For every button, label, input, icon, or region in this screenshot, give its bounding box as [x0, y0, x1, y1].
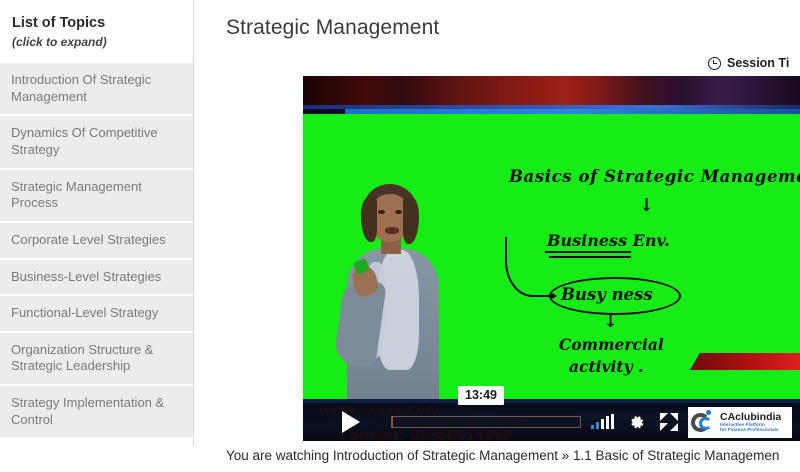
play-button[interactable] [333, 407, 369, 437]
sidebar-item-functional-level-strategy[interactable]: Functional-Level Strategy [0, 294, 193, 331]
fullscreen-corner-tr [670, 413, 678, 421]
seek-progress [392, 417, 393, 427]
volume-bar-2 [596, 422, 599, 429]
sidebar-item-dynamics-of-competitive-strategy[interactable]: Dynamics Of Competitive Strategy [0, 114, 193, 167]
sidebar-item-corporate-level-strategies[interactable]: Corporate Level Strategies [0, 221, 193, 258]
sidebar-item-organization-structure-strategic-leadership[interactable]: Organization Structure & Strategic Leade… [0, 331, 193, 384]
fullscreen-corner-bl [660, 423, 668, 431]
sidebar-subtitle: (click to expand) [12, 35, 181, 49]
player-controls: 13:49 [303, 403, 800, 441]
fullscreen-corner-br [670, 423, 678, 431]
handwriting-arrow-down-1: ↓ [639, 195, 654, 216]
session-time-indicator: Session Ti [708, 56, 800, 70]
handwriting-underline-2 [549, 256, 631, 258]
time-tooltip: 13:49 [458, 386, 504, 405]
handwriting-title: Basics of Strategic Management [509, 167, 800, 186]
presenter-eye-left [378, 210, 385, 214]
brand-tagline-line2: for Finance Professionals [720, 428, 781, 433]
handwriting-activity: activity . [569, 357, 643, 376]
seek-bar[interactable]: 13:49 [391, 416, 581, 428]
presenter-hair-left [361, 198, 377, 242]
gear-icon[interactable] [627, 413, 646, 432]
volume-bar-4 [606, 416, 609, 429]
logo-inner-c [699, 417, 712, 430]
now-watching-caption: You are watching Introduction of Strateg… [226, 448, 800, 463]
course-video-page: List of Topics (click to expand) Introdu… [0, 0, 800, 472]
video-top-banner [303, 76, 800, 109]
presenter-hair-right [403, 198, 419, 244]
page-title: Strategic Management [226, 16, 439, 40]
caclubindia-logo-text: CAclubindia Interactive Platform for Fin… [720, 412, 781, 433]
handwritten-notes: Basics of Strategic Management ↓ Busines… [499, 159, 799, 429]
handwriting-busy-ness: Busy ness [561, 285, 653, 304]
caclubindia-logo-icon [691, 410, 717, 434]
presenter-mouth [385, 227, 399, 234]
video-green-screen: Basics of Strategic Management ↓ Busines… [303, 109, 800, 399]
presenter-eye-right [395, 210, 402, 214]
caclubindia-logo[interactable]: CAclubindia Interactive Platform for Fin… [688, 407, 792, 438]
volume-bar-3 [601, 419, 604, 429]
topics-sidebar: List of Topics (click to expand) Introdu… [0, 0, 194, 446]
video-player[interactable]: Basics of Strategic Management ↓ Busines… [303, 76, 800, 441]
handwriting-commercial: Commercial [559, 335, 664, 354]
volume-icon[interactable] [591, 415, 614, 429]
handwriting-underline-1 [545, 251, 631, 253]
presenter-figure [333, 184, 451, 434]
handwriting-arrow-down-2: ↓ [603, 311, 618, 332]
logo-dot [706, 410, 711, 415]
clock-icon [708, 57, 721, 70]
sidebar-item-introduction-of-strategic-management[interactable]: Introduction Of Strategic Management [0, 61, 193, 114]
volume-bar-5 [611, 414, 614, 429]
volume-bar-1 [591, 425, 594, 429]
video-red-accent-bar [690, 353, 800, 370]
sidebar-item-business-level-strategies[interactable]: Business-Level Strategies [0, 258, 193, 295]
main-content: Strategic Management Session Ti [195, 0, 800, 472]
sidebar-header: List of Topics (click to expand) [0, 0, 193, 61]
sidebar-title: List of Topics [12, 14, 181, 32]
session-time-label: Session Ti [727, 56, 789, 70]
handwriting-business-env: Business Env. [547, 231, 670, 250]
play-icon [342, 411, 360, 433]
fullscreen-icon[interactable] [660, 413, 678, 431]
handwriting-curved-arrow [505, 237, 551, 297]
sidebar-item-strategy-implementation-control[interactable]: Strategy Implementation & Control [0, 384, 193, 437]
fullscreen-corner-tl [660, 413, 668, 421]
sidebar-item-strategic-management-process[interactable]: Strategic Management Process [0, 168, 193, 221]
